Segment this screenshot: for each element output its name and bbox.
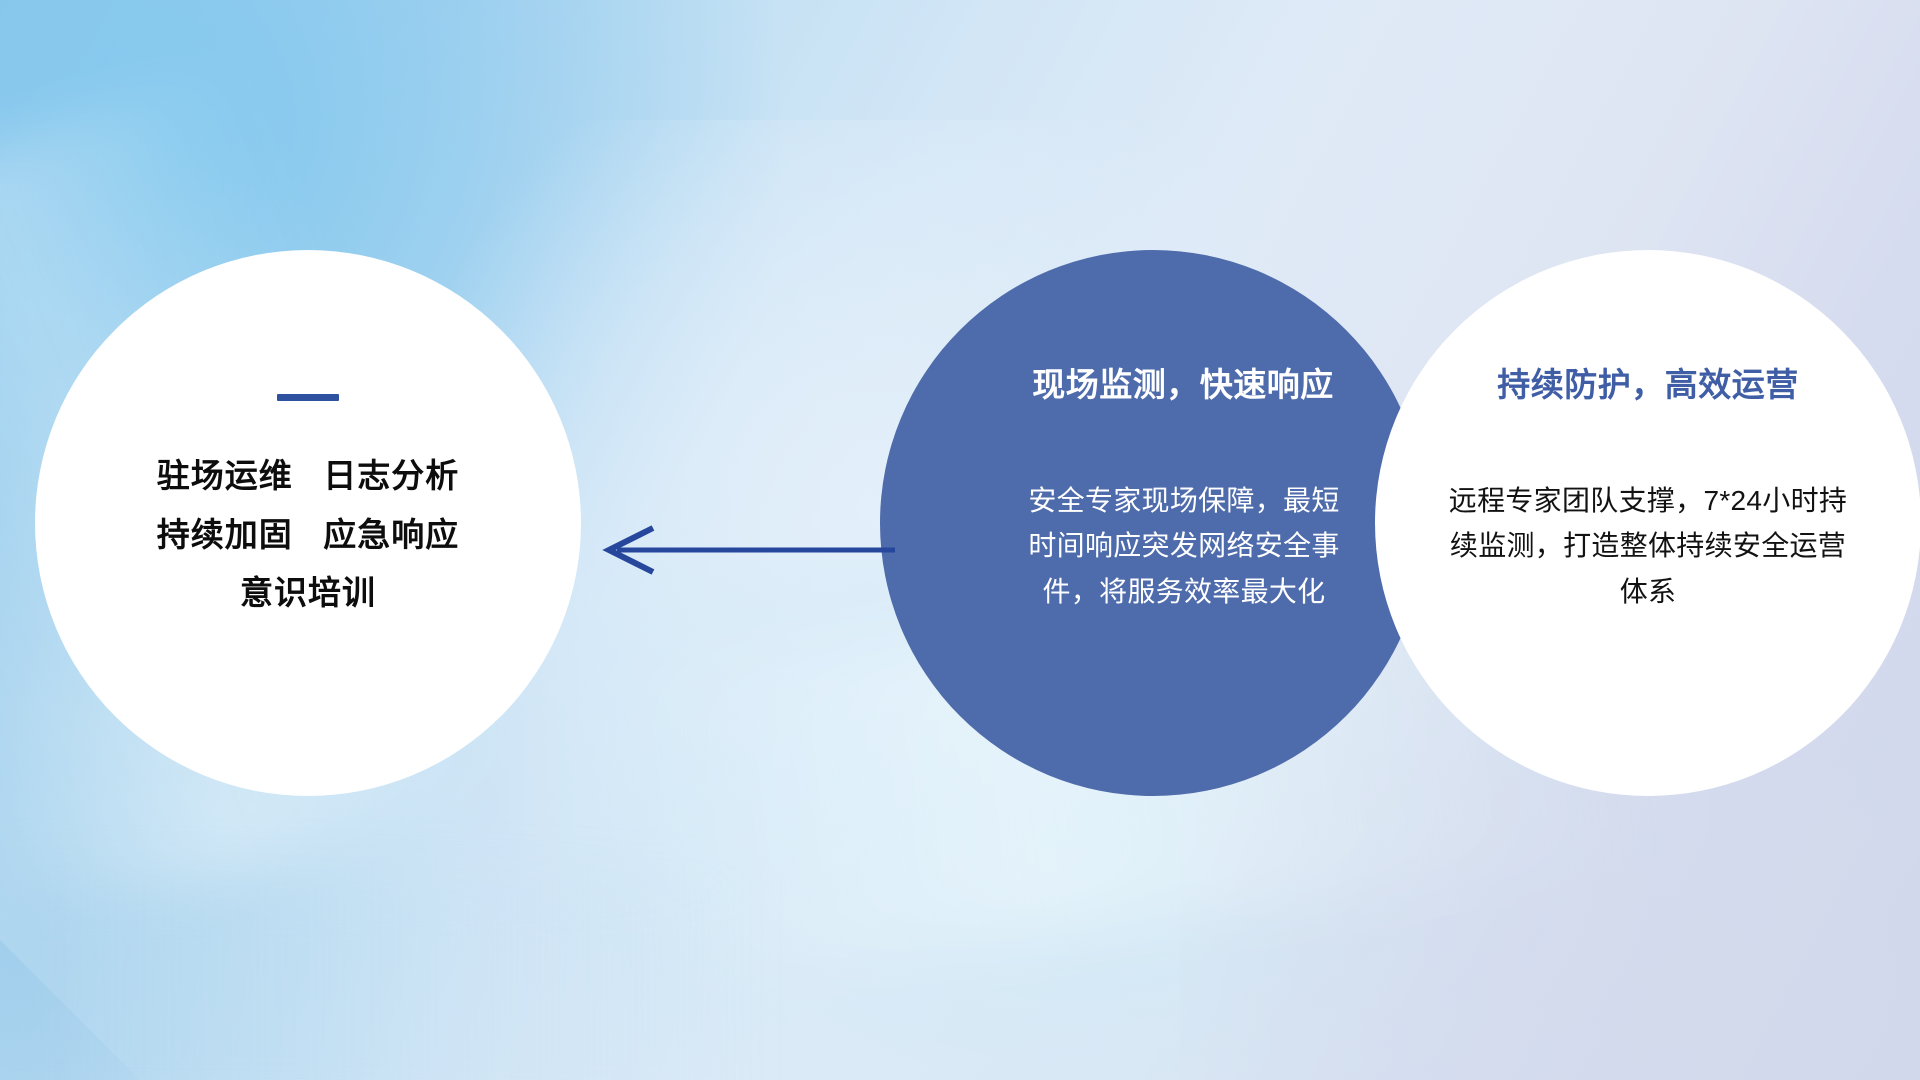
infographic-canvas: 驻场运维 日志分析 持续加固 应急响应 意识培训 现场监测，快速响应 安全专家现… [0,0,1920,1080]
arrow-left-icon [595,520,895,580]
short-dash-divider-icon [277,394,339,401]
list-item: 意识培训 [157,564,460,623]
list-item: 驻场运维 日志分析 [157,447,460,506]
onsite-monitoring-content: 现场监测，快速响应 安全专家现场保障，最短时间响应突发网络安全事件，将服务效率最… [880,250,1426,796]
continuous-protection-body: 远程专家团队支撑，7*24小时持续监测，打造整体持续安全运营体系 [1448,478,1848,614]
keywords-circle: 驻场运维 日志分析 持续加固 应急响应 意识培训 [35,250,581,796]
keywords-list: 驻场运维 日志分析 持续加固 应急响应 意识培训 [157,447,460,623]
background-light-streak-c [0,880,760,1080]
continuous-protection-content: 持续防护，高效运营 远程专家团队支撑，7*24小时持续监测，打造整体持续安全运营… [1375,250,1920,796]
continuous-protection-title: 持续防护，高效运营 [1497,358,1799,406]
onsite-monitoring-body: 安全专家现场保障，最短时间响应突发网络安全事件，将服务效率最大化 [1019,478,1349,614]
list-item: 持续加固 应急响应 [157,506,460,565]
onsite-monitoring-title: 现场监测，快速响应 [1032,358,1334,406]
